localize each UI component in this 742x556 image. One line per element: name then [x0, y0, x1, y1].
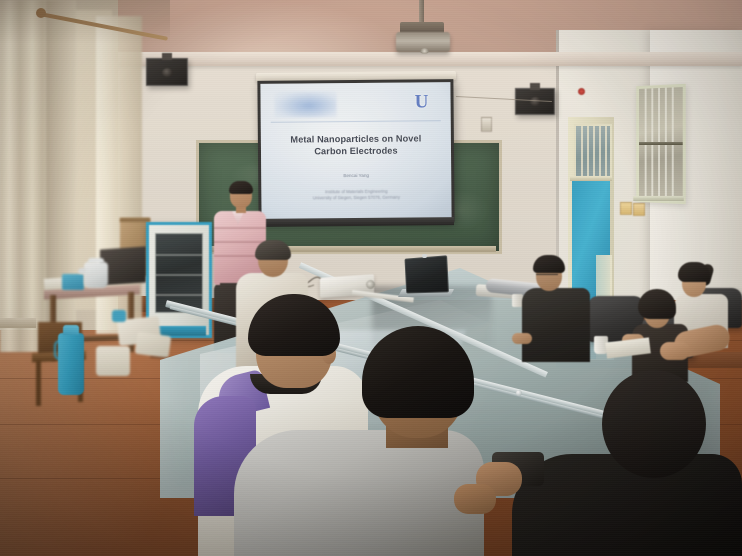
slide-title: Metal Nanoparticles on Novel Carbon Elec…: [273, 132, 439, 157]
blue-thermos: [58, 333, 84, 395]
door-grille-bar: [593, 126, 595, 178]
seminar-room-photograph: U Metal Nanoparticles on Novel Carbon El…: [0, 0, 742, 556]
shirt-stripe: [214, 227, 266, 229]
wall-sensor-box: [481, 117, 492, 132]
window-mid-rail: [639, 142, 683, 145]
door-grille-bar: [581, 126, 583, 178]
door-grille-bar: [587, 126, 589, 178]
university-of-siegen-logo-icon: U: [410, 91, 432, 115]
barred-window-sill: [633, 196, 683, 201]
light-switch[interactable]: [633, 203, 645, 216]
slide-surface: U Metal Nanoparticles on Novel Carbon El…: [260, 82, 451, 221]
foreground-shirt: [234, 430, 484, 556]
laptop-screen[interactable]: [405, 255, 450, 293]
speaker-cone: [162, 68, 173, 77]
cabinet-shelf: [156, 274, 202, 276]
slide-title-line-2: Carbon Electrodes: [273, 144, 439, 157]
attendee-dark-shirt: [520, 255, 594, 361]
chair-leg: [36, 360, 41, 406]
door-glass-pane: [574, 124, 612, 180]
speaker-mount: [162, 53, 172, 60]
foreground-dark-camera: [452, 370, 742, 556]
laptop-hinge: [422, 254, 427, 258]
door-grille-bar: [605, 126, 607, 178]
cabinet-shelf: [156, 254, 202, 256]
portable-projector-lens: [366, 280, 375, 289]
logo-letter: U: [413, 93, 429, 111]
light-switch[interactable]: [620, 202, 632, 215]
fingers: [660, 342, 690, 360]
attendee-hair: [533, 255, 565, 273]
electric-kettle: [84, 262, 108, 288]
presenter-hair: [229, 181, 253, 194]
small-blue-object: [112, 310, 126, 322]
thermos-cap: [63, 325, 79, 335]
decorative-blue-graphic-icon: [274, 91, 336, 118]
projection-screen-weight-bar: [258, 217, 454, 227]
wall-indicator-light: [578, 88, 585, 95]
kettle-spout: [78, 268, 86, 274]
curtain-rod-finial: [36, 8, 46, 18]
cabinet-glass-door[interactable]: [155, 233, 203, 313]
speaker-mount: [530, 83, 540, 90]
eyeglasses-icon: [536, 274, 558, 280]
door-grille-bar: [599, 126, 601, 178]
projector-lens: [420, 48, 429, 54]
kettle-lid: [88, 258, 104, 263]
floor-debris: [135, 332, 172, 359]
wall-speaker-left: [146, 58, 188, 86]
attendee-hair: [678, 262, 710, 282]
hand: [454, 484, 496, 514]
blue-container: [62, 274, 84, 290]
attendee-hair: [638, 289, 676, 319]
attendee-torso: [522, 288, 590, 362]
cabinet-shelf: [156, 294, 202, 296]
attendee-hair: [255, 240, 291, 260]
foreground-head: [602, 370, 706, 478]
barred-window: [636, 84, 686, 204]
floor-bag: [96, 346, 130, 376]
projection-screen: U Metal Nanoparticles on Novel Carbon El…: [257, 79, 454, 224]
slide-title-line-1: Metal Nanoparticles on Novel: [273, 132, 439, 145]
projector-mount-pole: [419, 0, 424, 24]
speaker-cone: [530, 97, 541, 106]
slide-affiliation: Institute of Materials Engineering Unive…: [273, 188, 439, 202]
